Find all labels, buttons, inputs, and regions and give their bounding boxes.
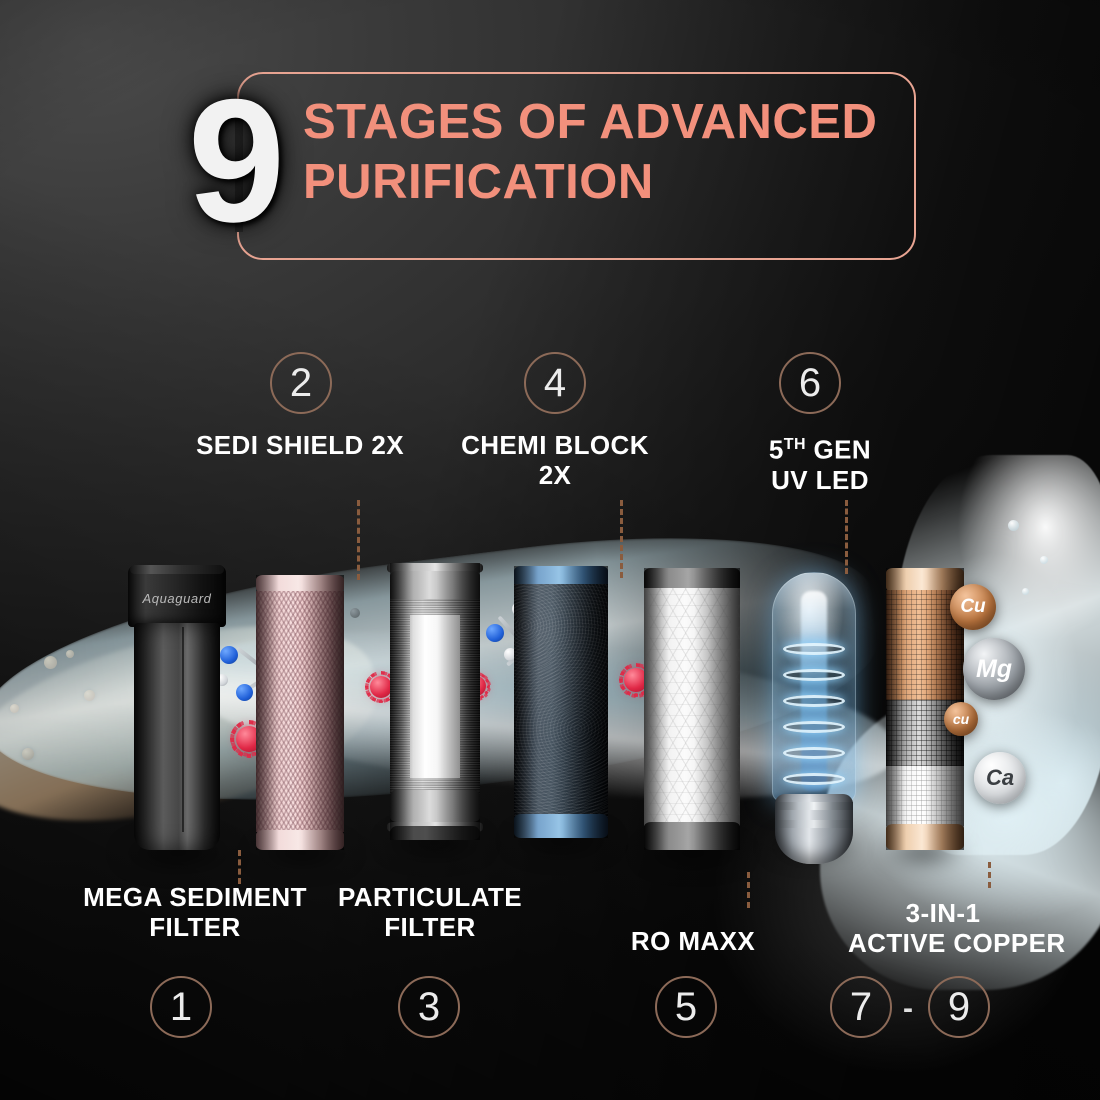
infographic-canvas: Aquaguard (0, 0, 1100, 1100)
vignette-overlay (0, 0, 1100, 1100)
